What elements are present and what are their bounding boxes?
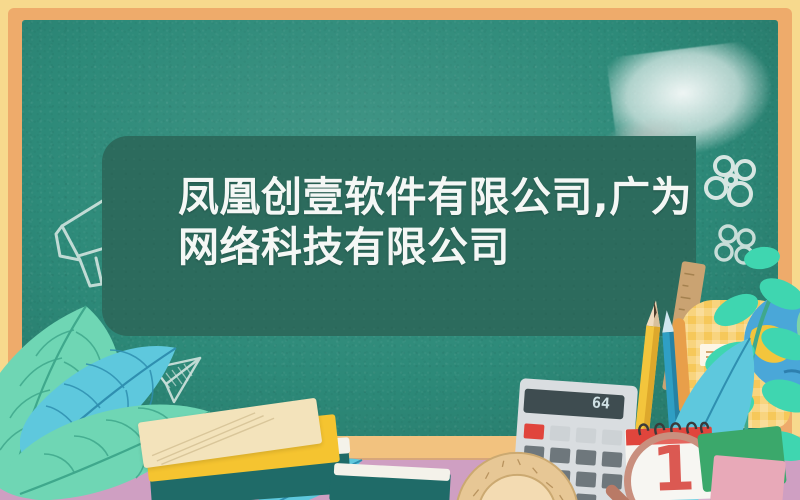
- calculator-key-3[interactable]: [576, 427, 597, 443]
- calculator-key-7[interactable]: [576, 449, 597, 465]
- calculator-key-11[interactable]: [576, 471, 597, 487]
- calculator-key-8[interactable]: [602, 451, 623, 467]
- calculator-key-4[interactable]: [602, 429, 623, 445]
- calculator-display-value: 64: [591, 393, 610, 412]
- folder-pink: [710, 455, 786, 500]
- poster-canvas: 凤凰创壹软件有限公司,广为网络科技有限公司: [0, 0, 800, 500]
- page-title: 凤凰创壹软件有限公司,广为网络科技有限公司: [178, 172, 718, 272]
- calculator-key-2[interactable]: [550, 425, 571, 441]
- calculator-key-15[interactable]: [576, 493, 597, 500]
- calculator-key-ac[interactable]: [524, 423, 545, 439]
